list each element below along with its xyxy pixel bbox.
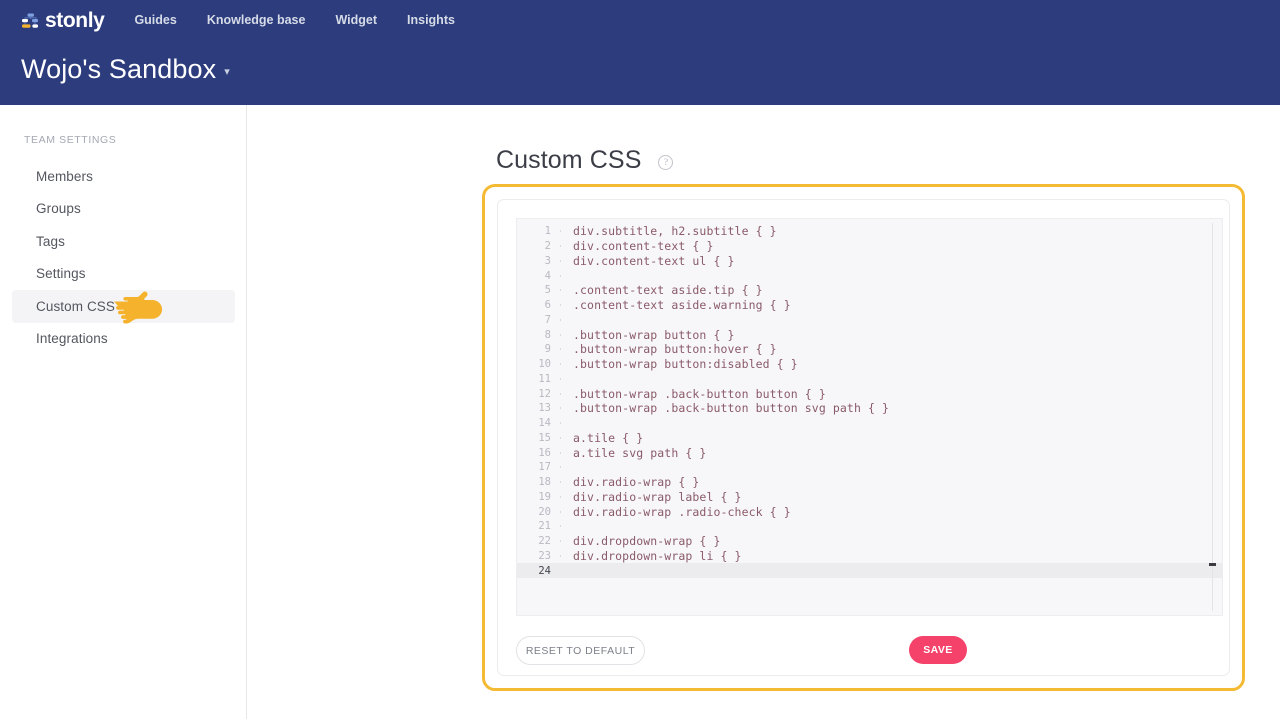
reset-to-default-button[interactable]: RESET TO DEFAULT	[516, 636, 645, 665]
code-line[interactable]: 10 .button-wrap button:disabled { }	[517, 357, 1222, 372]
line-number: 20	[517, 506, 551, 518]
code-line[interactable]: 15 a.tile { }	[517, 431, 1222, 446]
chevron-down-icon: ▾	[224, 65, 230, 78]
code-line[interactable]: 22 div.dropdown-wrap { }	[517, 534, 1222, 549]
line-number: 4	[517, 270, 551, 282]
code-line[interactable]: 13 .button-wrap .back-button button svg …	[517, 401, 1222, 416]
line-number: 24	[517, 565, 551, 577]
code-line[interactable]: 23 div.dropdown-wrap li { }	[517, 549, 1222, 564]
line-text: .button-wrap button:hover { }	[573, 342, 1222, 356]
nav-link-insights[interactable]: Insights	[407, 13, 455, 27]
line-number: 6	[517, 299, 551, 311]
sidebar-item-settings[interactable]: Settings	[12, 258, 235, 291]
line-text: div.radio-wrap .radio-check { }	[573, 505, 1222, 519]
workspace-title: Wojo's Sandbox	[21, 56, 216, 83]
line-text: .button-wrap .back-button button { }	[573, 387, 1222, 401]
sidebar-item-tags[interactable]: Tags	[12, 225, 235, 258]
line-text: a.tile svg path { }	[573, 446, 1222, 460]
line-text: .button-wrap button { }	[573, 328, 1222, 342]
nav-link-guides[interactable]: Guides	[134, 13, 176, 27]
line-text: .button-wrap .back-button button svg pat…	[573, 401, 1222, 415]
nav-link-widget[interactable]: Widget	[335, 13, 377, 27]
code-line[interactable]: 8 .button-wrap button { }	[517, 327, 1222, 342]
code-line[interactable]: 14	[517, 416, 1222, 431]
line-text: div.radio-wrap { }	[573, 475, 1222, 489]
code-line[interactable]: 19 div.radio-wrap label { }	[517, 490, 1222, 505]
nav-link-knowledge-base[interactable]: Knowledge base	[207, 13, 306, 27]
code-line[interactable]: 21	[517, 519, 1222, 534]
line-number: 3	[517, 255, 551, 267]
code-line[interactable]: 5 .content-text aside.tip { }	[517, 283, 1222, 298]
code-line[interactable]: 6 .content-text aside.warning { }	[517, 298, 1222, 313]
line-number: 16	[517, 447, 551, 459]
line-number: 22	[517, 535, 551, 547]
line-number: 17	[517, 461, 551, 473]
line-text: div.radio-wrap label { }	[573, 490, 1222, 504]
sidebar: TEAM SETTINGS Members Groups Tags Settin…	[0, 105, 247, 719]
pointing-hand-cursor-icon	[110, 286, 166, 328]
line-number: 7	[517, 314, 551, 326]
line-number: 8	[517, 329, 551, 341]
line-number: 15	[517, 432, 551, 444]
sidebar-item-groups[interactable]: Groups	[12, 193, 235, 226]
workspace-selector[interactable]: Wojo's Sandbox ▾	[21, 56, 230, 83]
line-text: div.dropdown-wrap { }	[573, 534, 1222, 548]
line-text: a.tile { }	[573, 431, 1222, 445]
editor-scrollbar-thumb[interactable]	[1209, 563, 1216, 566]
editor-scrollbar-track-line	[1212, 223, 1213, 611]
custom-css-code-editor[interactable]: 1 div.subtitle, h2.subtitle { } 2 div.co…	[516, 218, 1223, 616]
line-number: 18	[517, 476, 551, 488]
sidebar-heading: TEAM SETTINGS	[24, 134, 116, 146]
page-title-row: Custom CSS ?	[496, 146, 673, 175]
line-text: .button-wrap button:disabled { }	[573, 357, 1222, 371]
code-line[interactable]: 12 .button-wrap .back-button button { }	[517, 386, 1222, 401]
line-number: 13	[517, 402, 551, 414]
sidebar-list: Members Groups Tags Settings Custom CSS …	[0, 160, 247, 355]
line-text: div.dropdown-wrap li { }	[573, 549, 1222, 563]
code-rows: 1 div.subtitle, h2.subtitle { } 2 div.co…	[517, 224, 1222, 578]
main-content: Custom CSS ? 1 div.subtitle, h2.subtitle…	[247, 105, 1280, 719]
line-number: 10	[517, 358, 551, 370]
nav-links: Guides Knowledge base Widget Insights	[134, 13, 454, 27]
code-line[interactable]: 9 .button-wrap button:hover { }	[517, 342, 1222, 357]
editor-scrollbar[interactable]	[1209, 223, 1216, 611]
code-line[interactable]: 3 div.content-text ul { }	[517, 254, 1222, 269]
logo-text: stonly	[45, 10, 104, 31]
sidebar-item-label: Integrations	[36, 331, 108, 346]
question-mark-circle-icon[interactable]: ?	[658, 155, 673, 170]
line-text: .content-text aside.warning { }	[573, 298, 1222, 312]
code-line[interactable]: 7	[517, 313, 1222, 328]
line-number: 21	[517, 520, 551, 532]
line-number: 19	[517, 491, 551, 503]
code-line[interactable]: 17	[517, 460, 1222, 475]
code-line[interactable]: 2 div.content-text { }	[517, 239, 1222, 254]
code-line[interactable]: 11	[517, 372, 1222, 387]
line-number: 14	[517, 417, 551, 429]
stonly-logo[interactable]: stonly	[21, 7, 104, 33]
nav-row: stonly Guides Knowledge base Widget Insi…	[0, 0, 1280, 40]
custom-css-card: 1 div.subtitle, h2.subtitle { } 2 div.co…	[497, 199, 1230, 676]
sidebar-item-custom-css[interactable]: Custom CSS	[12, 290, 235, 323]
line-number: 9	[517, 343, 551, 355]
line-text: div.content-text { }	[573, 239, 1222, 253]
line-number: 12	[517, 388, 551, 400]
code-line[interactable]: 20 div.radio-wrap .radio-check { }	[517, 504, 1222, 519]
sidebar-item-label: Custom CSS	[36, 299, 115, 314]
line-number: 2	[517, 240, 551, 252]
line-text: div.subtitle, h2.subtitle { }	[573, 224, 1222, 238]
page-title: Custom CSS	[496, 146, 641, 175]
sidebar-item-label: Members	[36, 169, 93, 184]
code-line[interactable]: 18 div.radio-wrap { }	[517, 475, 1222, 490]
line-number: 5	[517, 284, 551, 296]
save-button[interactable]: SAVE	[909, 636, 967, 664]
line-number: 23	[517, 550, 551, 562]
line-text: div.content-text ul { }	[573, 254, 1222, 268]
sidebar-item-label: Tags	[36, 234, 65, 249]
line-text: .content-text aside.tip { }	[573, 283, 1222, 297]
sidebar-item-members[interactable]: Members	[12, 160, 235, 193]
top-navigation-bar: stonly Guides Knowledge base Widget Insi…	[0, 0, 1280, 105]
sidebar-item-label: Groups	[36, 201, 81, 216]
code-line[interactable]: 1 div.subtitle, h2.subtitle { }	[517, 224, 1222, 239]
sidebar-item-label: Settings	[36, 266, 86, 281]
code-line-active[interactable]: 24	[517, 563, 1222, 578]
sidebar-item-integrations[interactable]: Integrations	[12, 323, 235, 356]
code-line[interactable]: 16 a.tile svg path { }	[517, 445, 1222, 460]
code-line[interactable]: 4	[517, 268, 1222, 283]
line-number: 11	[517, 373, 551, 385]
line-number: 1	[517, 225, 551, 237]
stonly-node-mark-icon	[21, 12, 40, 31]
